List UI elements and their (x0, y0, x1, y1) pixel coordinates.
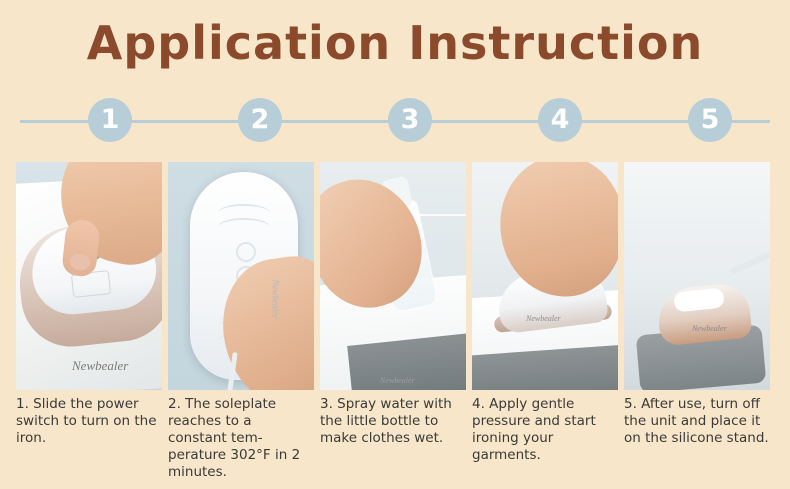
photo-step-5: Newbealer (624, 162, 770, 390)
caption-step-2: 2. The soleplate reaches to a constant t… (168, 396, 314, 481)
photo2-wave-mark-2 (218, 218, 270, 236)
caption-step-5: 5. After use, turn off the unit and plac… (624, 396, 770, 481)
photo2-brand-logo: Newbealer (271, 280, 281, 319)
caption-row: 1. Slide the power switch to turn on the… (16, 396, 774, 481)
step-number-4: 4 (538, 98, 582, 142)
step-number-2: 2 (238, 98, 282, 142)
photo3-brand-logo: Newbealer (380, 376, 415, 385)
photo3-water-spray (416, 214, 466, 216)
photo4-brand-logo: Newbealer (526, 314, 561, 323)
caption-step-4: 4. Apply gentle pressure and start ironi… (472, 396, 618, 481)
photo5-brand-logo: Newbealer (692, 324, 727, 333)
photo-step-2: Newbealer (168, 162, 314, 390)
photo-step-3: Newbealer (320, 162, 466, 390)
step-number-1: 1 (88, 98, 132, 142)
photo-row: Newbealer Newbealer Newbealer (16, 162, 774, 390)
caption-step-1: 1. Slide the power switch to turn on the… (16, 396, 162, 481)
caption-step-3: 3. Spray water with the little bottle to… (320, 396, 466, 481)
photo-step-1: Newbealer (16, 162, 162, 390)
step-number-5: 5 (688, 98, 732, 142)
page-title: Application Instruction (0, 16, 790, 70)
step-number-strip: 1 2 3 4 5 (20, 98, 770, 142)
step-number-3: 3 (388, 98, 432, 142)
photo2-diamond-mark-1 (236, 242, 256, 262)
poster: Application Instruction 1 2 3 4 5 Newbea… (0, 0, 790, 489)
photo-step-4: Newbealer (472, 162, 618, 390)
photo1-brand-logo: Newbealer (72, 358, 128, 374)
